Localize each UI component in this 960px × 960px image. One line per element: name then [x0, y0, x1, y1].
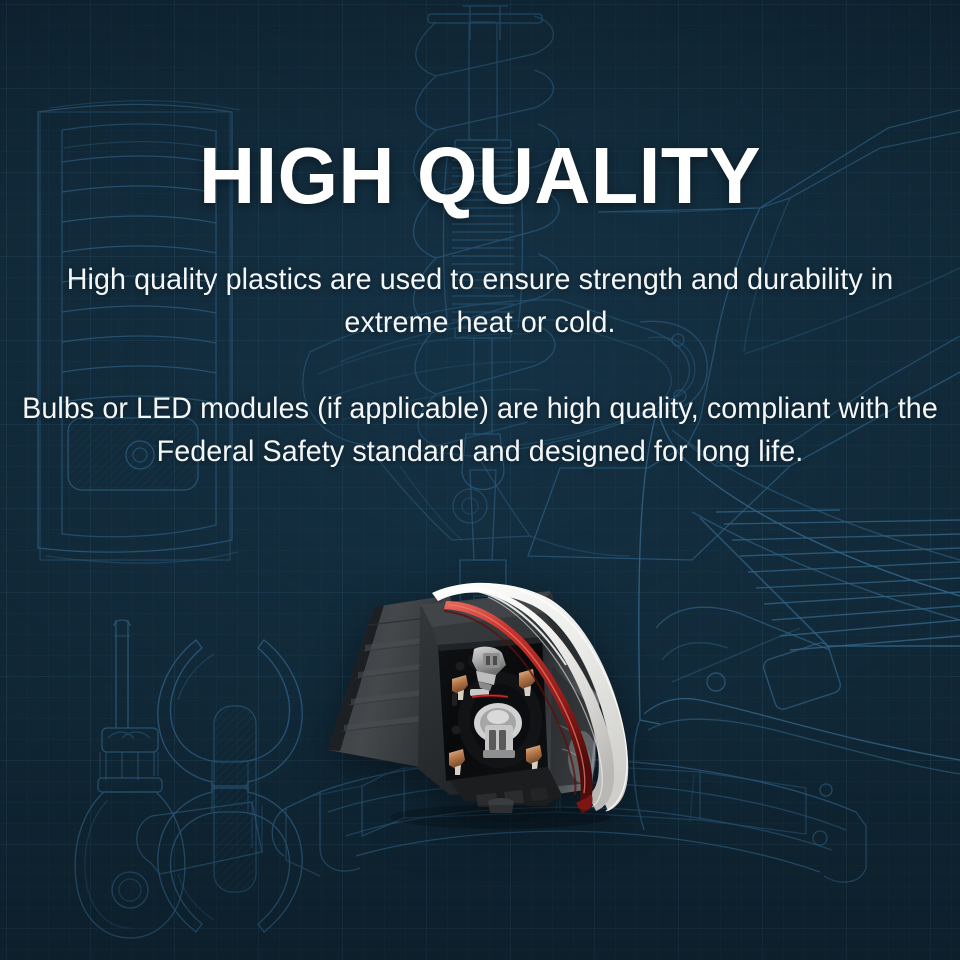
description-paragraph-2: Bulbs or LED modules (if applicable) are… [22, 387, 939, 473]
slide-content: HIGH QUALITY High quality plastics are u… [0, 0, 960, 960]
promo-slide: HIGH QUALITY High quality plastics are u… [0, 0, 960, 960]
page-title: HIGH QUALITY [14, 134, 945, 218]
description-block: High quality plastics are used to ensure… [0, 258, 960, 473]
description-paragraph-1: High quality plastics are used to ensure… [22, 258, 939, 344]
